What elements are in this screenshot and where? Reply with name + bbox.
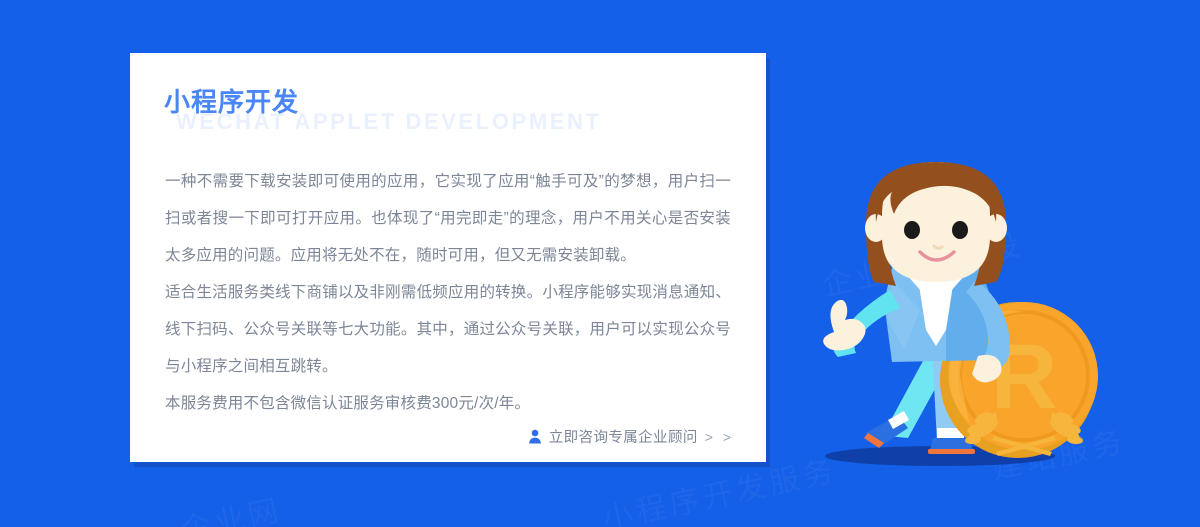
description-block: 一种不需要下载安装即可使用的应用，它实现了应用“触手可及”的梦想，用户扫一扫或者… <box>165 163 731 422</box>
consult-advisor-link[interactable]: 立即咨询专属企业顾问 > > <box>528 426 734 447</box>
chevron-right-icon: > > <box>705 429 734 445</box>
description-paragraph: 本服务费用不包含微信认证服务审核费300元/次/年。 <box>165 385 731 422</box>
eye-left <box>904 221 920 239</box>
title-block: WECHAT APPLET DEVELOPMENT 小程序开发 <box>164 86 724 148</box>
businesswoman-with-coin-illustration: R <box>780 150 1110 480</box>
background-watermark: 企业网 <box>177 485 286 527</box>
user-icon <box>528 429 542 444</box>
page-title: 小程序开发 <box>164 86 299 118</box>
thumbs-up-hand <box>823 300 865 350</box>
description-paragraph: 适合生活服务类线下商铺以及非刚需低频应用的转换。小程序能够实现消息通知、线下扫码… <box>165 274 731 385</box>
description-paragraph: 一种不需要下载安装即可使用的应用，它实现了应用“触手可及”的梦想，用户扫一扫或者… <box>165 163 731 274</box>
page-root: 企业网站建设 小程序开发服务 企业网 建站服务 微信开发 WECHAT APPL… <box>0 0 1200 527</box>
eye-right <box>952 221 968 239</box>
content-card: WECHAT APPLET DEVELOPMENT 小程序开发 一种不需要下载安… <box>130 53 766 462</box>
consult-advisor-label: 立即咨询专属企业顾问 <box>549 426 698 447</box>
